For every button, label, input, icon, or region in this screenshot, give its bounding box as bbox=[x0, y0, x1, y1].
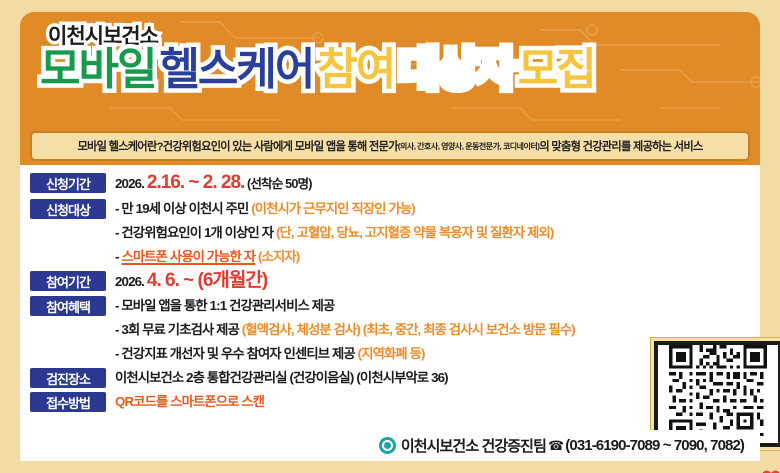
subtitle-text: 모바일 헬스케어란? 건강위험요인이 있는 사람에게 모바일 앱을 통해 전문가… bbox=[30, 131, 750, 161]
subtitle-roles: (의사, 간호사, 영양사, 운동전문가, 코디네이터) bbox=[398, 141, 540, 152]
text-segment: 4. 6. ~ (6개월간) bbox=[147, 270, 267, 291]
text-segment: (이천시가 근무지인 직장인 가능) bbox=[251, 201, 415, 216]
info-row: 신청대상- 만 19세 이상 이천시 주민 (이천시가 근무지인 직장인 가능) bbox=[30, 197, 750, 219]
poster-header: 이천시보건소 모바일헬스케어참여대상자모집 bbox=[20, 12, 760, 127]
text-segment: 2026. bbox=[115, 274, 147, 289]
row-tag-spacer bbox=[30, 344, 106, 364]
row-tag-spacer bbox=[30, 320, 106, 340]
info-row-continuation: - 건강위험요인이 1개 이상인 자 (단, 고혈압, 당뇨, 고지혈증 약물 … bbox=[30, 221, 750, 243]
subtitle-body-2: 의 맞춤형 건강관리를 제공하는 서비스 bbox=[539, 138, 702, 154]
row-tag[interactable]: 검진장소 bbox=[30, 368, 106, 388]
row-line: - 스마트폰 사용이 가능한 자 (소지자) bbox=[115, 246, 750, 267]
text-segment: - 모바일 앱을 통한 1:1 건강관리서비스 제공 bbox=[115, 298, 334, 313]
subtitle-bar: 모바일 헬스케어란? 건강위험요인이 있는 사람에게 모바일 앱을 통해 전문가… bbox=[20, 127, 760, 165]
row-content: 2026. 2.16. ~ 2. 28. (선착순 50명) bbox=[115, 171, 750, 195]
info-row: 참여혜택- 모바일 앱을 통한 1:1 건강관리서비스 제공 bbox=[30, 294, 750, 316]
text-segment: 2026. bbox=[115, 176, 147, 191]
subtitle-lead: 모바일 헬스케어란? bbox=[77, 138, 162, 154]
row-tag[interactable]: 참여기간 bbox=[30, 271, 106, 291]
row-content: - 만 19세 이상 이천시 주민 (이천시가 근무지인 직장인 가능) bbox=[115, 197, 750, 219]
row-tag[interactable]: 신청기간 bbox=[30, 173, 106, 193]
text-segment: (단, 고혈압, 당뇨, 고지혈증 약물 복용자 및 질환자 제외) bbox=[276, 225, 554, 240]
footer-bar: 이천시보건소 건강증진팀 ☎ (031-6190-7089 ~ 7090, 70… bbox=[20, 430, 760, 461]
mascot-illustration bbox=[665, 465, 780, 473]
row-line: - 모바일 앱을 통한 1:1 건강관리서비스 제공 bbox=[115, 295, 750, 316]
text-segment: 이천시보건소 2층 통합건강관리실 (건강이음실) (이천시부악로 36) bbox=[115, 370, 448, 385]
info-row-continuation: - 3회 무료 기초검사 제공 (혈액검사, 체성분 검사) (최초, 중간, … bbox=[30, 318, 750, 340]
info-row-continuation: - 스마트폰 사용이 가능한 자 (소지자) bbox=[30, 245, 750, 267]
phone-icon: ☎ bbox=[548, 438, 563, 454]
text-segment: (지역화폐 등) bbox=[358, 346, 425, 361]
text-segment: 스마트폰 사용이 가능한 자 bbox=[121, 249, 255, 264]
text-segment: - 3회 무료 기초검사 제공 bbox=[115, 322, 242, 337]
footer-dept: 이천시보건소 건강증진팀 bbox=[401, 435, 546, 456]
row-tag-spacer bbox=[30, 223, 106, 243]
title-part-4: 대상자 bbox=[398, 45, 513, 94]
info-row-continuation: - 건강지표 개선자 및 우수 참여자 인센티브 제공 (지역화폐 등) bbox=[30, 342, 750, 364]
info-row: 접수방법QR코드를 스마트폰으로 스캔 bbox=[30, 390, 750, 412]
title-part-1: 모바일 bbox=[40, 45, 155, 94]
row-tag[interactable]: 접수방법 bbox=[30, 392, 106, 412]
title-part-5: 모집 bbox=[518, 45, 595, 94]
text-segment: (혈액검사, 체성분 검사) (최초, 중간, 최종 검사시 보건소 방문 필수… bbox=[242, 322, 575, 337]
poster-title: 모바일헬스케어참여대상자모집 bbox=[40, 48, 750, 92]
poster-root: 이천시보건소 모바일헬스케어참여대상자모집 모바일 헬스케어란? 건강위험요인이… bbox=[0, 0, 780, 473]
row-tag-spacer bbox=[30, 247, 106, 267]
row-tag[interactable]: 신청대상 bbox=[30, 199, 106, 219]
row-line: 2026. 4. 6. ~ (6개월간) bbox=[115, 270, 750, 292]
info-row: 검진장소이천시보건소 2층 통합건강관리실 (건강이음실) (이천시부악로 36… bbox=[30, 366, 750, 388]
subtitle-body-1: 건강위험요인이 있는 사람에게 모바일 앱을 통해 전문가 bbox=[163, 138, 398, 154]
row-content: 2026. 4. 6. ~ (6개월간) bbox=[115, 269, 750, 292]
text-segment: QR코드를 스마트폰으로 스캔 bbox=[115, 394, 264, 409]
row-content: - 모바일 앱을 통한 1:1 건강관리서비스 제공 bbox=[115, 294, 750, 316]
row-content: - 건강위험요인이 1개 이상인 자 (단, 고혈압, 당뇨, 고지혈증 약물 … bbox=[115, 221, 750, 243]
row-content: - 스마트폰 사용이 가능한 자 (소지자) bbox=[115, 245, 750, 267]
info-card: 신청기간2026. 2.16. ~ 2. 28. (선착순 50명)신청대상- … bbox=[20, 165, 760, 430]
info-row: 신청기간2026. 2.16. ~ 2. 28. (선착순 50명) bbox=[30, 171, 750, 195]
title-part-2: 헬스케어 bbox=[159, 45, 313, 94]
title-part-3: 참여 bbox=[317, 45, 394, 94]
footer-phone: (031-6190-7089 ~ 7090, 7082) bbox=[565, 437, 744, 454]
text-segment: - 만 19세 이상 이천시 주민 bbox=[115, 201, 251, 216]
text-segment: - 건강위험요인이 1개 이상인 자 bbox=[115, 225, 276, 240]
text-segment: (선착순 50명) bbox=[244, 177, 311, 191]
row-tag[interactable]: 참여혜택 bbox=[30, 296, 106, 316]
info-rows: 신청기간2026. 2.16. ~ 2. 28. (선착순 50명)신청대상- … bbox=[30, 171, 750, 414]
health-center-logo-icon bbox=[379, 437, 396, 454]
row-line: - 건강위험요인이 1개 이상인 자 (단, 고혈압, 당뇨, 고지혈증 약물 … bbox=[115, 222, 750, 243]
text-segment: - 건강지표 개선자 및 우수 참여자 인센티브 제공 bbox=[115, 346, 358, 361]
info-row: 참여기간2026. 4. 6. ~ (6개월간) bbox=[30, 269, 750, 292]
row-line: - 만 19세 이상 이천시 주민 (이천시가 근무지인 직장인 가능) bbox=[115, 198, 750, 219]
text-segment: (소지자) bbox=[255, 249, 299, 264]
row-line: 2026. 2.16. ~ 2. 28. (선착순 50명) bbox=[115, 172, 750, 195]
text-segment: 2.16. ~ 2. 28. bbox=[147, 172, 244, 193]
